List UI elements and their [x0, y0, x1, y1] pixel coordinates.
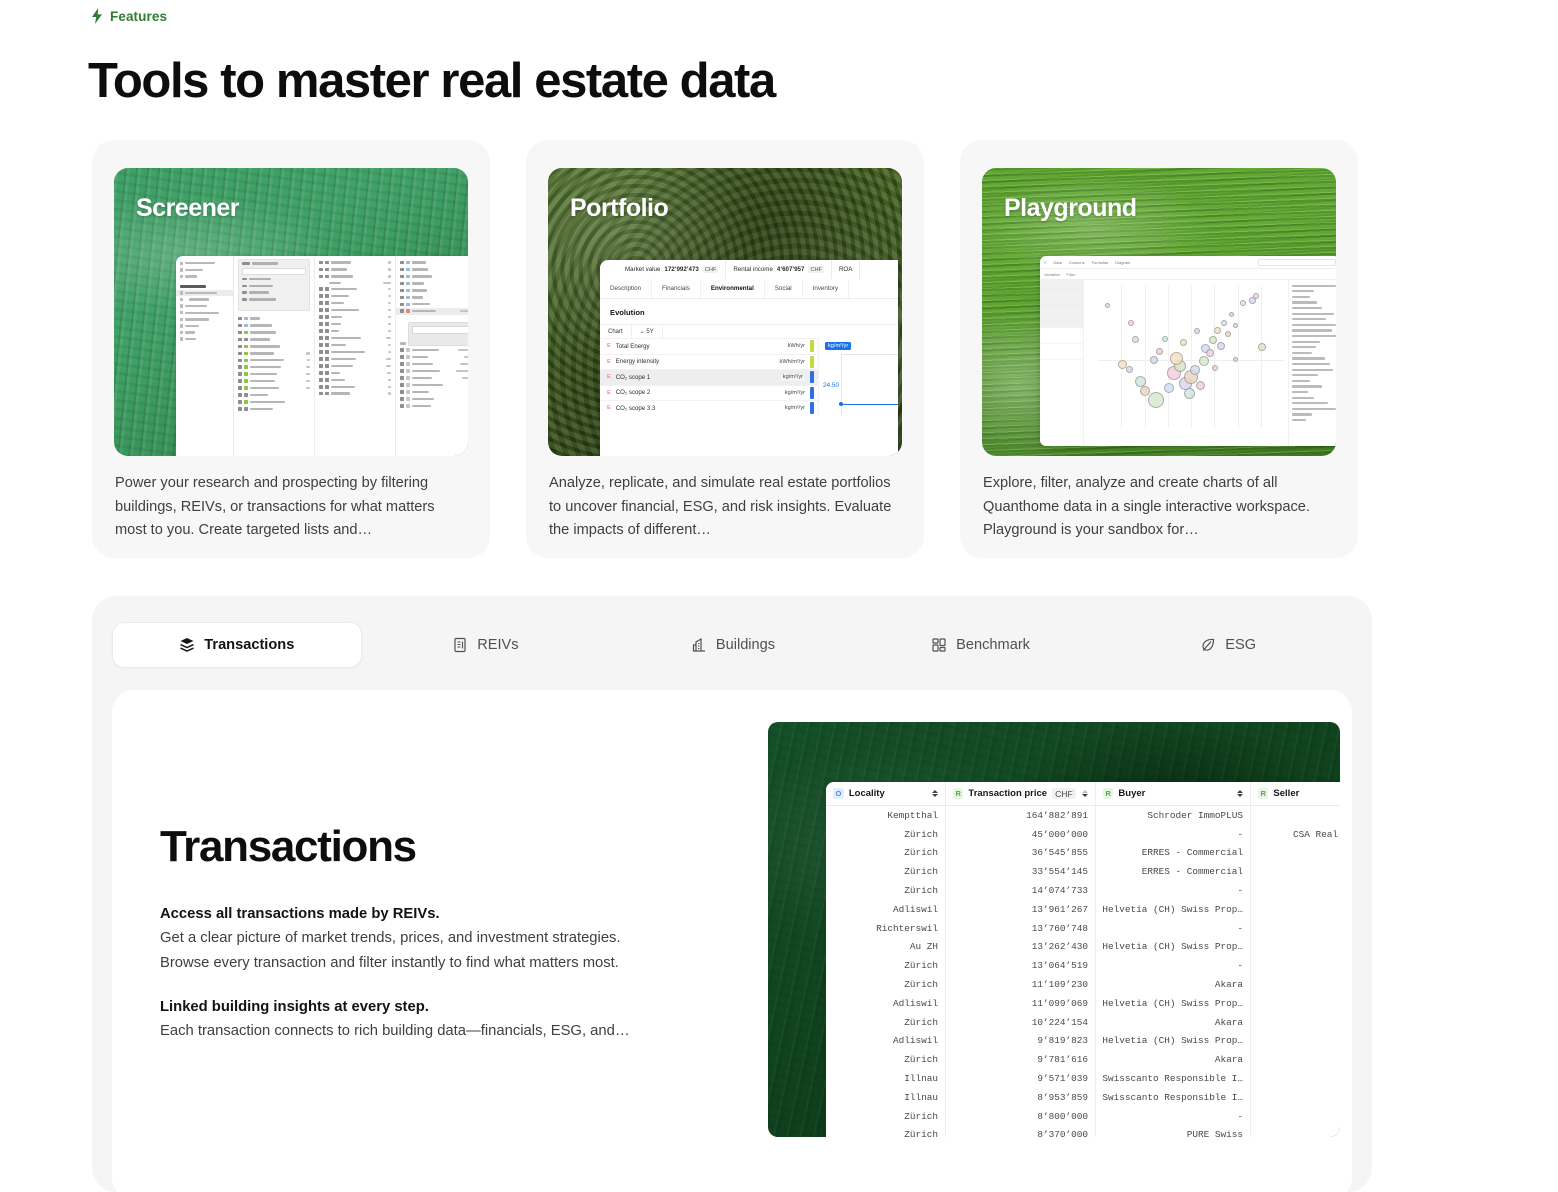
table-cell: Akara [1096, 1013, 1251, 1032]
feature-cards: Screener [92, 140, 1358, 558]
kpi-rental-income: Rental income 4’607’957 CHF [726, 260, 832, 279]
table-cell: - [1096, 1107, 1251, 1126]
portfolio-tab-inventory: Inventory [803, 279, 849, 298]
chart-bubble [1148, 392, 1164, 408]
chart-bubble [1212, 365, 1218, 371]
table-row[interactable]: Adliswil9’819’823Helvetia (CH) Swiss Pro… [826, 1032, 1340, 1051]
table-cell: 8’953’859 [946, 1088, 1096, 1107]
portfolio-kpi-row: Market value 172’992’473 CHF Rental inco… [600, 260, 898, 279]
chart-bubble [1132, 336, 1139, 343]
transactions-screenshot: O Locality R Transaction price CHF R [768, 722, 1340, 1137]
lightning-bolt-icon [90, 8, 104, 24]
chart-bubble [1105, 303, 1110, 308]
screener-app-screenshot [176, 256, 468, 456]
table-cell: Zürich [826, 1013, 946, 1032]
copy-block-line: Each transaction connects to rich buildi… [160, 1019, 720, 1044]
metric-unit: kg/m²/yr [781, 374, 805, 381]
table-cell: Helvetia (CH) Swiss Prop… [1096, 900, 1251, 919]
chart-bubble [1190, 365, 1200, 375]
screener-media: Screener [114, 168, 468, 456]
table-cell: ERRES - Commercial [1096, 844, 1251, 863]
table-cell [1251, 919, 1340, 938]
table-cell: - [1096, 825, 1251, 844]
metric-badge: E [607, 405, 611, 411]
table-cell: - [1096, 919, 1251, 938]
table-cell [1251, 862, 1340, 881]
feature-tabbar: Transactions REIVs Buildings Benchmark [112, 622, 1352, 668]
playground-media: Playground ≡DataColumnsFormulasDiagram V… [982, 168, 1336, 456]
metric-row: E CO₂ scope 3.3 kg/m²/yr [600, 400, 818, 416]
table-cell: Adliswil [826, 1032, 946, 1051]
table-cell: Zürich [826, 975, 946, 994]
chart-bubble [1199, 356, 1209, 366]
table-cell: Schroder ImmoPLUS [1096, 806, 1251, 825]
table-cell [1251, 900, 1340, 919]
portfolio-chart-controls: Chart ⌄ 5Y [600, 324, 898, 338]
chart-unit-badge: kg/m²/yr [825, 342, 851, 350]
table-row[interactable]: Adliswil13’961’267Helvetia (CH) Swiss Pr… [826, 900, 1340, 919]
clipboard-list-icon [452, 637, 468, 653]
metric-badge: E [607, 390, 611, 396]
metric-badge: E [607, 359, 611, 365]
leaf-icon [1200, 637, 1216, 653]
portfolio-tab-social: Social [765, 279, 803, 298]
table-header-row: O Locality R Transaction price CHF R [826, 782, 1340, 806]
chart-bubble [1164, 383, 1174, 393]
metric-name: CO₂ scope 3.3 [616, 405, 656, 412]
table-cell: Akara [1096, 1050, 1251, 1069]
chart-bubble [1180, 339, 1187, 346]
metric-color-chip [810, 371, 814, 383]
table-cell: - [1096, 881, 1251, 900]
table-cell: Au ZH [826, 938, 946, 957]
chart-bubble [1209, 336, 1217, 344]
feature-card-screener[interactable]: Screener [92, 140, 490, 558]
metric-color-chip [810, 340, 814, 352]
chart-bubble [1221, 320, 1227, 326]
table-cell: Zürich [826, 862, 946, 881]
table-cell: Zürich [826, 825, 946, 844]
table-cell: Illnau [826, 1088, 946, 1107]
table-cell: Kemptthal [826, 806, 946, 825]
portfolio-evolution-chart: kg/m²/yr 24.50 [818, 338, 898, 416]
tab-buildings[interactable]: Buildings [609, 622, 857, 668]
portfolio-tabs: Description Financials Environmental Soc… [600, 279, 898, 299]
table-cell: 164’882’891 [946, 806, 1096, 825]
metric-unit: kg/m²/yr [785, 405, 805, 411]
portfolio-section-title: Evolution [600, 299, 898, 324]
layers-icon [179, 637, 195, 653]
sort-icon[interactable] [932, 790, 938, 797]
chart-bubble [1156, 348, 1163, 355]
table-row[interactable]: Illnau9’571’039Swisscanto Responsible I… [826, 1069, 1340, 1088]
tab-buildings-label: Buildings [716, 637, 775, 653]
table-row[interactable]: Zürich33’554’145ERRES - Commercial [826, 862, 1340, 881]
metric-badge: E [607, 343, 611, 349]
playground-bubble-chart [1084, 280, 1288, 446]
table-cell: PURE Swiss [1096, 1126, 1251, 1137]
chart-bubble [1225, 331, 1231, 337]
table-cell: 13’961’267 [946, 900, 1096, 919]
table-cell: Zürich [826, 956, 946, 975]
table-cell [1251, 975, 1340, 994]
feature-detail-panel: Transactions REIVs Buildings Benchmark [92, 596, 1372, 1192]
table-row[interactable]: Zürich36’545’855ERRES - Commercial [826, 844, 1340, 863]
tab-reivs-label: REIVs [477, 637, 518, 653]
metric-unit: kWh/m²/yr [780, 359, 805, 365]
chart-bubble [1196, 381, 1205, 390]
feature-card-playground[interactable]: Playground ≡DataColumnsFormulasDiagram V… [960, 140, 1358, 558]
table-cell [1251, 806, 1340, 825]
page-title: Tools to master real estate data [88, 52, 775, 110]
table-row[interactable]: Adliswil11’099’069Helvetia (CH) Swiss Pr… [826, 994, 1340, 1013]
table-cell: 13’760’748 [946, 919, 1096, 938]
chart-bubble [1126, 366, 1133, 373]
chart-bubble [1170, 352, 1183, 365]
copy-block-heading: Access all transactions made by REIVs. [160, 902, 720, 926]
metric-color-chip [810, 402, 814, 414]
table-cell: Richterswil [826, 919, 946, 938]
table-cell: Zürich [826, 881, 946, 900]
table-cell [1251, 1013, 1340, 1032]
table-cell: 9’781’616 [946, 1050, 1096, 1069]
portfolio-description: Analyze, replicate, and simulate real es… [549, 472, 899, 543]
column-label: Locality [849, 788, 885, 799]
column-type-badge: R [1258, 788, 1268, 799]
chart-bubble [1240, 300, 1246, 306]
portfolio-media: Portfolio Market value 172’992’473 CHF R… [548, 168, 902, 456]
chart-bubble [1214, 327, 1221, 334]
table-cell: Zürich [826, 1107, 946, 1126]
chart-bubble [1258, 343, 1266, 351]
chart-bubble [1194, 328, 1200, 334]
transactions-table: O Locality R Transaction price CHF R [826, 782, 1340, 1137]
chart-value-label: 24.50 [823, 382, 839, 389]
features-eyebrow: Features [90, 8, 167, 24]
portfolio-title: Portfolio [570, 194, 668, 223]
table-cell: Adliswil [826, 900, 946, 919]
column-header-buyer[interactable]: R Buyer [1096, 782, 1251, 805]
column-type-badge: R [1103, 788, 1113, 799]
tab-reivs[interactable]: REIVs [362, 622, 610, 668]
table-cell: Helvetia (CH) Swiss Prop… [1096, 938, 1251, 957]
metric-row: E Energy intensity kWh/m²/yr [600, 354, 818, 370]
table-cell [1251, 1088, 1340, 1107]
playground-description: Explore, filter, analyze and create char… [983, 472, 1333, 543]
table-cell: 9’819’823 [946, 1032, 1096, 1051]
chart-bubble [1184, 388, 1195, 399]
grid-blocks-icon [931, 637, 947, 653]
metric-name: Energy intensity [616, 358, 659, 365]
chart-bubble [1206, 349, 1214, 357]
feature-card-portfolio[interactable]: Portfolio Market value 172’992’473 CHF R… [526, 140, 924, 558]
table-cell: 45’000’000 [946, 825, 1096, 844]
table-row[interactable]: Zürich14’074’733- [826, 881, 1340, 900]
chart-bubble [1162, 336, 1168, 342]
chart-control-label: Chart [600, 325, 632, 338]
table-cell [1251, 1032, 1340, 1051]
table-row[interactable]: Zürich11’109’230Akara [826, 975, 1340, 994]
table-cell: Zürich [826, 844, 946, 863]
table-cell: ERRES - Commercial [1096, 862, 1251, 881]
portfolio-tab-financials: Financials [652, 279, 701, 298]
transactions-heading: Transactions [160, 822, 416, 872]
column-type-badge: R [953, 788, 963, 799]
table-row[interactable]: Kemptthal164’882’891Schroder ImmoPLUS [826, 806, 1340, 825]
table-cell [1251, 1126, 1340, 1137]
portfolio-app-screenshot: Market value 172’992’473 CHF Rental inco… [600, 260, 898, 456]
features-eyebrow-label: Features [110, 9, 167, 24]
chart-bubble [1140, 386, 1150, 396]
table-cell: CSA Real [1251, 825, 1340, 844]
kpi-market-value: Market value 172’992’473 CHF [618, 260, 726, 279]
metric-name: Total Energy [616, 343, 650, 350]
table-cell: 11’109’230 [946, 975, 1096, 994]
table-cell: Swisscanto Responsible I… [1096, 1088, 1251, 1107]
table-row[interactable]: Illnau8’953’859Swisscanto Responsible I… [826, 1088, 1340, 1107]
features-page: Features Tools to master real estate dat… [0, 0, 1558, 1192]
sort-icon[interactable] [1082, 790, 1088, 797]
playground-app-screenshot: ≡DataColumnsFormulasDiagram VariablesFil… [1040, 256, 1336, 446]
column-header-locality[interactable]: O Locality [826, 782, 946, 805]
table-row[interactable]: Richterswil13’760’748- [826, 919, 1340, 938]
table-cell: Zürich [826, 1126, 946, 1137]
table-cell: Adliswil [826, 994, 946, 1013]
table-cell: 8’370’000 [946, 1126, 1096, 1137]
table-row[interactable]: Zürich10’224’154Akara [826, 1013, 1340, 1032]
playground-title: Playground [1004, 194, 1137, 223]
copy-block-heading: Linked building insights at every step. [160, 995, 720, 1019]
column-label: Transaction price [968, 788, 1047, 799]
table-row[interactable]: Au ZH13’262’430Helvetia (CH) Swiss Prop… [826, 938, 1340, 957]
transactions-copy: Access all transactions made by REIVs. G… [160, 902, 720, 1044]
portfolio-tab-environmental: Environmental [701, 279, 765, 298]
metric-row: E Total Energy kWh/yr [600, 338, 818, 354]
metric-name: CO₂ scope 2 [616, 389, 651, 396]
kpi-roa: ROA [832, 260, 860, 279]
metric-badge: E [607, 374, 611, 380]
table-cell: 14’074’733 [946, 881, 1096, 900]
tab-transactions-label: Transactions [204, 637, 294, 653]
table-cell [1251, 994, 1340, 1013]
column-label: Seller [1273, 788, 1299, 799]
metric-color-chip [810, 387, 814, 399]
table-body: Kemptthal164’882’891Schroder ImmoPLUSZür… [826, 806, 1340, 1137]
copy-block-line: Get a clear picture of market trends, pr… [160, 926, 720, 951]
table-cell: Helvetia (CH) Swiss Prop… [1096, 994, 1251, 1013]
table-cell [1251, 1050, 1340, 1069]
sort-icon[interactable] [1237, 790, 1243, 797]
metric-row: E CO₂ scope 1 kg/m²/yr [600, 369, 818, 385]
screener-title: Screener [136, 194, 239, 223]
column-label: Buyer [1118, 788, 1145, 799]
chart-bubble [1217, 342, 1225, 350]
table-cell: 9’571’039 [946, 1069, 1096, 1088]
table-cell [1251, 1107, 1340, 1126]
transactions-tab-content: Transactions Access all transactions mad… [112, 690, 1352, 1192]
table-cell [1251, 956, 1340, 975]
tab-benchmark[interactable]: Benchmark [857, 622, 1105, 668]
portfolio-metric-rows: E Total Energy kWh/yr E Energy intensity… [600, 338, 818, 416]
column-header-transaction-price[interactable]: R Transaction price CHF [946, 782, 1096, 805]
portfolio-tab-description: Description [600, 279, 652, 298]
table-cell: Illnau [826, 1069, 946, 1088]
table-row[interactable]: Zürich8’370’000PURE Swiss [826, 1126, 1340, 1137]
table-cell: Helvetia (CH) Swiss Prop… [1096, 1032, 1251, 1051]
chart-bubble [1135, 376, 1146, 387]
table-cell: 13’064’519 [946, 956, 1096, 975]
table-cell: 8’800’000 [946, 1107, 1096, 1126]
metric-color-chip [810, 356, 814, 368]
tab-esg[interactable]: ESG [1104, 622, 1352, 668]
metric-unit: kWh/yr [788, 343, 805, 349]
copy-block-line: Browse every transaction and filter inst… [160, 951, 720, 976]
table-cell [1251, 881, 1340, 900]
table-row[interactable]: Zürich8’800’000- [826, 1107, 1340, 1126]
building-icon [691, 637, 707, 653]
column-unit: CHF [1052, 788, 1076, 799]
chart-bubble [1150, 356, 1158, 364]
table-cell [1251, 844, 1340, 863]
column-header-seller[interactable]: R Seller [1251, 782, 1340, 805]
table-cell: 33’554’145 [946, 862, 1096, 881]
table-cell: Swisscanto Responsible I… [1096, 1069, 1251, 1088]
playground-search-input [1258, 259, 1336, 266]
table-cell: 10’224’154 [946, 1013, 1096, 1032]
table-row[interactable]: Zürich13’064’519- [826, 956, 1340, 975]
column-type-badge: O [833, 788, 844, 799]
table-cell: 36’545’855 [946, 844, 1096, 863]
metric-row: E CO₂ scope 2 kg/m²/yr [600, 385, 818, 401]
chart-range-select: ⌄ 5Y [632, 325, 663, 338]
table-row[interactable]: Zürich9’781’616Akara [826, 1050, 1340, 1069]
table-row[interactable]: Zürich45’000’000-CSA Real [826, 825, 1340, 844]
screener-description: Power your research and prospecting by f… [115, 472, 465, 543]
chart-bubble [1128, 320, 1134, 326]
metric-name: CO₂ scope 1 [616, 374, 651, 381]
table-cell: Zürich [826, 1050, 946, 1069]
chart-bubble [1253, 293, 1259, 299]
chart-bubble [1229, 312, 1234, 317]
table-cell: 13’262’430 [946, 938, 1096, 957]
table-cell: - [1096, 956, 1251, 975]
metric-unit: kg/m²/yr [785, 390, 805, 396]
table-cell [1251, 938, 1340, 957]
tab-esg-label: ESG [1225, 637, 1256, 653]
tab-transactions[interactable]: Transactions [112, 622, 362, 668]
tab-benchmark-label: Benchmark [956, 637, 1030, 653]
table-cell [1251, 1069, 1340, 1088]
table-cell: Akara [1096, 975, 1251, 994]
table-cell: 11’099’069 [946, 994, 1096, 1013]
